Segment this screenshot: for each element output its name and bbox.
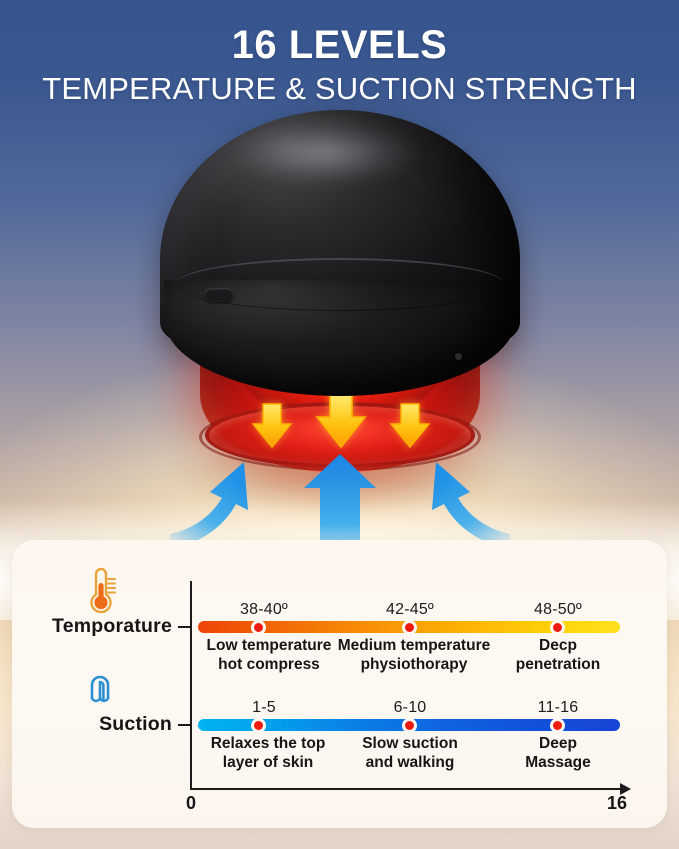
- temperature-desc-3-line2: penetration: [488, 656, 628, 675]
- temperature-desc-1: Low temperature hot compress: [194, 637, 344, 675]
- suction-marker-2: [402, 718, 417, 733]
- temperature-value-1: 38-40º: [194, 601, 334, 619]
- suction-desc-1-line1: Relaxes the top: [194, 735, 342, 754]
- heat-arrow-down-right-icon: [388, 402, 432, 450]
- suction-desc-2-line1: Slow suction: [340, 735, 480, 754]
- chart-tick-temperature: [178, 626, 192, 628]
- axis-max-label: 16: [607, 793, 627, 814]
- heat-arrow-down-left-icon: [250, 402, 294, 450]
- row-label-temperature: Temporature: [0, 615, 172, 638]
- temperature-level-bar: [198, 621, 620, 633]
- suction-icon: [78, 668, 122, 714]
- suction-value-2: 6-10: [340, 699, 480, 717]
- product-device-image: [140, 110, 540, 500]
- suction-desc-2: Slow suction and walking: [340, 735, 480, 773]
- chart-x-axis: [190, 788, 622, 790]
- temperature-marker-2: [402, 620, 417, 635]
- thermometer-icon: [78, 568, 122, 614]
- headline-block: 16 LEVELS TEMPERATURE & SUCTION STRENGTH: [0, 24, 679, 109]
- suction-desc-3-line2: Massage: [488, 754, 628, 773]
- temperature-marker-3: [550, 620, 565, 635]
- suction-marker-3: [550, 718, 565, 733]
- headline-secondary: TEMPERATURE & SUCTION STRENGTH: [0, 70, 679, 109]
- temperature-marker-1: [251, 620, 266, 635]
- temperature-value-3: 48-50º: [488, 601, 628, 619]
- temperature-desc-1-line1: Low temperature: [194, 637, 344, 656]
- suction-value-1: 1-5: [194, 699, 334, 717]
- headline-primary: 16 LEVELS: [0, 24, 679, 66]
- device-seam-line: [175, 258, 505, 311]
- temperature-value-2: 42-45º: [340, 601, 480, 619]
- device-highlight: [232, 122, 419, 184]
- temperature-desc-3-line1: Decp: [488, 637, 628, 656]
- suction-desc-1: Relaxes the top layer of skin: [194, 735, 342, 773]
- device-side-notch: [204, 288, 234, 302]
- device-air-port: [455, 353, 462, 360]
- axis-min-label: 0: [186, 793, 196, 814]
- temperature-desc-2-line1: Medium temperature: [333, 637, 495, 656]
- heat-arrow-down-center-icon: [313, 390, 369, 450]
- suction-desc-3: Deep Massage: [488, 735, 628, 773]
- promo-image-root: 16 LEVELS TEMPERATURE & SUCTION STRENGTH: [0, 0, 679, 849]
- temperature-desc-3: Decp penetration: [488, 637, 628, 675]
- suction-value-3: 11-16: [488, 699, 628, 717]
- suction-level-bar: [198, 719, 620, 731]
- row-label-suction: Suction: [0, 713, 172, 736]
- suction-arrow-right-icon: [432, 462, 510, 548]
- suction-desc-1-line2: layer of skin: [194, 754, 342, 773]
- chart-tick-suction: [178, 724, 192, 726]
- temperature-desc-2: Medium temperature physiothorapy: [333, 637, 495, 675]
- suction-desc-3-line1: Deep: [488, 735, 628, 754]
- temperature-desc-1-line2: hot compress: [194, 656, 344, 675]
- suction-arrow-left-icon: [170, 462, 248, 548]
- suction-marker-1: [251, 718, 266, 733]
- chart-y-axis: [190, 581, 192, 790]
- suction-desc-2-line2: and walking: [340, 754, 480, 773]
- temperature-desc-2-line2: physiothorapy: [333, 656, 495, 675]
